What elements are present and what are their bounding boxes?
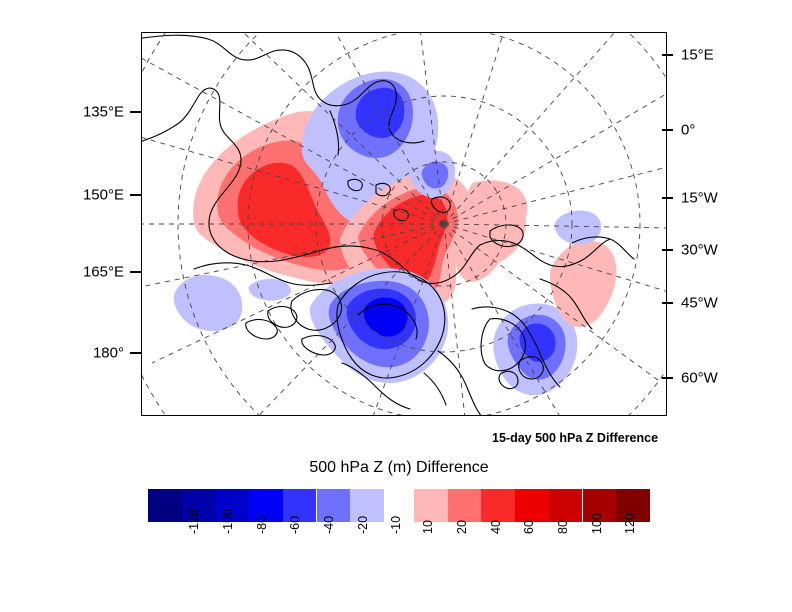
- colorbar-segment-neg-80[interactable]: [215, 489, 249, 522]
- contour-positive-10-scandinavia: [458, 197, 526, 265]
- right-tick-15E: [662, 54, 673, 56]
- colorbar-segment-neg-40[interactable]: [283, 489, 317, 522]
- axis-label-left-150E: 150°E: [83, 188, 124, 203]
- colorbar-tick-pos-10: 10: [421, 520, 435, 534]
- right-tick-45W: [662, 302, 673, 304]
- right-tick-60W: [662, 377, 673, 379]
- right-tick-0: [662, 129, 673, 131]
- colorbar-tick-pos-80: 80: [556, 520, 570, 534]
- colorbar-segment-pos-120[interactable]: [616, 489, 650, 522]
- left-tick-180: [130, 352, 141, 354]
- colorbar-segment-neg-120[interactable]: [148, 489, 182, 522]
- colorbar-tick-pos-60: 60: [522, 520, 536, 534]
- contour-negative-10-alaska: [174, 275, 243, 331]
- colorbar-segment-pos-40[interactable]: [481, 489, 515, 522]
- anomaly-shading: [174, 72, 617, 396]
- colorbar-segment-neg-100[interactable]: [182, 489, 216, 522]
- colorbar-segment-neg-20[interactable]: [317, 489, 351, 522]
- right-tick-30W: [662, 249, 673, 251]
- axis-label-right-15W: 15°W: [681, 191, 718, 206]
- colorbar-segment-pos-10[interactable]: [414, 489, 448, 522]
- colorbar-tick-pos-20: 20: [455, 520, 469, 534]
- figure-subtitle: 15-day 500 hPa Z Difference: [492, 431, 658, 445]
- axis-label-right-0: 0°: [681, 123, 695, 138]
- axis-label-left-135E: 135°E: [83, 105, 124, 120]
- axis-label-right-45W: 45°W: [681, 296, 718, 311]
- colorbar-tick-pos-40: 40: [489, 520, 503, 534]
- colorbar-segment-pos-80[interactable]: [549, 489, 583, 522]
- map-panel[interactable]: [141, 32, 667, 416]
- axis-label-right-60W: 60°W: [681, 371, 718, 386]
- left-tick-150E: [130, 194, 141, 196]
- colorbar-segment-neg-10[interactable]: [350, 489, 384, 522]
- figure-canvas: 135°E 150°E 165°E 180° 15°E 0° 15°W 30°W…: [0, 0, 792, 612]
- colorbar-segment-pos-60[interactable]: [515, 489, 549, 522]
- axis-label-right-30W: 30°W: [681, 243, 718, 258]
- axis-label-left-180: 180°: [93, 346, 124, 361]
- contour-negative-10-barents: [555, 210, 601, 244]
- contour-negative-10-alaska-small: [249, 279, 291, 301]
- colorbar-segment-neg-60[interactable]: [249, 489, 283, 522]
- axis-label-left-165E: 165°E: [83, 265, 124, 280]
- left-tick-165E: [130, 271, 141, 273]
- map-plot-svg: [142, 33, 666, 415]
- left-tick-135E: [130, 111, 141, 113]
- axis-label-right-15E: 15°E: [681, 48, 714, 63]
- colorbar-tick-neg-10: -10: [389, 516, 403, 534]
- colorbar-segment-pos-20[interactable]: [448, 489, 482, 522]
- colorbar-segment-pos-100[interactable]: [583, 489, 617, 522]
- colorbar-title: 500 hPa Z (m) Difference: [309, 459, 488, 477]
- right-tick-15W: [662, 197, 673, 199]
